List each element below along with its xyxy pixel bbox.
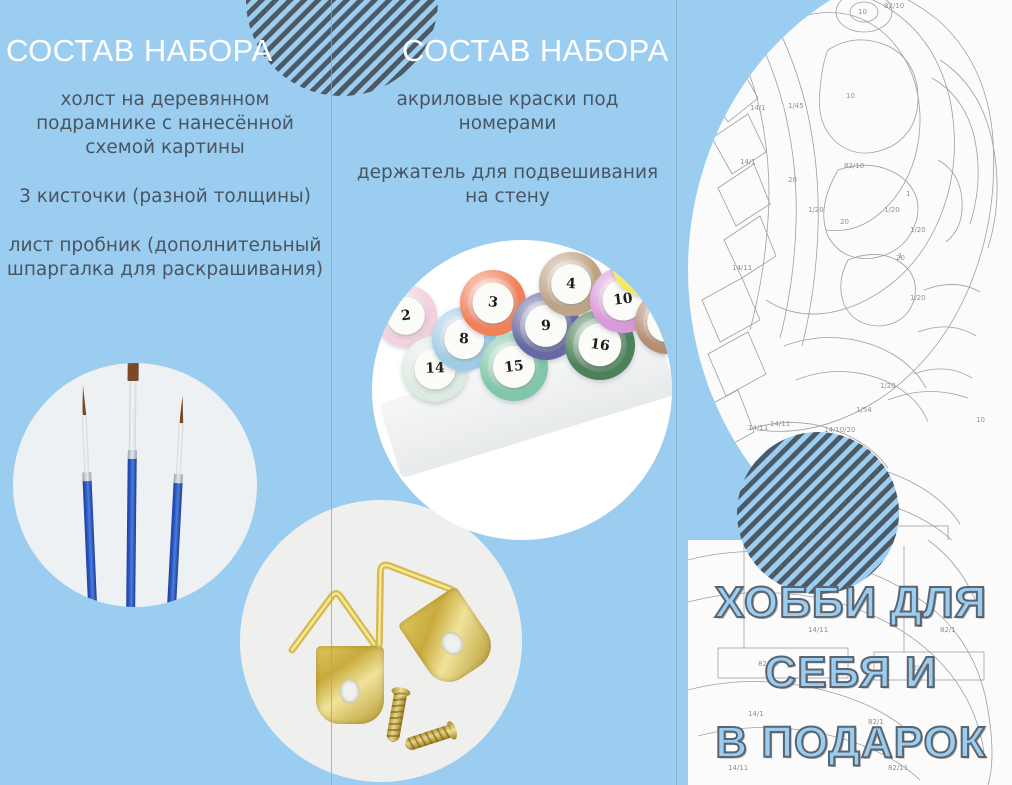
photo-wall-hanger bbox=[240, 500, 522, 782]
svg-text:1: 1 bbox=[906, 190, 910, 198]
brush-band bbox=[174, 474, 183, 483]
svg-text:14/11: 14/11 bbox=[732, 264, 752, 272]
brush-bristles bbox=[128, 363, 139, 381]
kit-contents-list-left: холст на деревянном подрамнике с нанесён… bbox=[6, 88, 324, 282]
brush-band bbox=[82, 472, 91, 481]
svg-text:1/20: 1/20 bbox=[910, 226, 926, 234]
kit-item-paints: акриловые краски под номерами bbox=[345, 88, 670, 136]
svg-text:82/10: 82/10 bbox=[884, 2, 904, 10]
brush-handle bbox=[166, 479, 183, 607]
poster-root: 82/10 10 10 82/10 20 20 20 1/20 1/20 1/4… bbox=[0, 0, 1012, 785]
svg-text:1/20: 1/20 bbox=[884, 206, 900, 214]
photo-brushes bbox=[13, 363, 257, 607]
striped-circle-bottom bbox=[737, 432, 899, 594]
svg-text:10: 10 bbox=[976, 416, 985, 424]
svg-text:1/20: 1/20 bbox=[910, 294, 926, 302]
svg-text:14/11: 14/11 bbox=[706, 429, 726, 437]
brush-handle bbox=[82, 477, 98, 607]
kit-item-hanger: держатель для подвешивания на стену bbox=[345, 161, 670, 209]
svg-text:1/54: 1/54 bbox=[856, 406, 872, 414]
screw-angled bbox=[404, 724, 454, 751]
svg-text:14/1: 14/1 bbox=[750, 104, 766, 112]
kit-contents-header-right: СОСТАВ НАБОРА bbox=[402, 33, 669, 69]
svg-text:1/20: 1/20 bbox=[880, 382, 896, 390]
svg-text:1: 1 bbox=[898, 252, 902, 260]
svg-text:14/11: 14/11 bbox=[748, 424, 768, 432]
brush-handle bbox=[126, 455, 137, 607]
svg-text:1/45: 1/45 bbox=[788, 102, 804, 110]
svg-text:82/10: 82/10 bbox=[844, 162, 864, 170]
svg-text:10: 10 bbox=[846, 92, 855, 100]
kit-contents-header-left: СОСТАВ НАБОРА bbox=[6, 33, 273, 69]
slogan-line-1: ХОББИ ДЛЯ bbox=[690, 578, 1012, 628]
svg-text:14/11: 14/11 bbox=[770, 420, 790, 428]
hanger-plate bbox=[316, 646, 384, 724]
kit-item-brushes: 3 кисточки (разной толщины) bbox=[6, 185, 324, 209]
brush-bristles bbox=[179, 395, 184, 423]
column-divider-left bbox=[331, 0, 332, 785]
column-divider-right bbox=[676, 0, 677, 785]
brush-ferrule bbox=[129, 381, 137, 455]
brush-band bbox=[128, 450, 137, 459]
svg-text:10: 10 bbox=[858, 8, 867, 16]
svg-text:20: 20 bbox=[840, 218, 849, 226]
kit-item-canvas: холст на деревянном подрамнике с нанесён… bbox=[6, 88, 324, 160]
svg-text:20: 20 bbox=[788, 176, 797, 184]
slogan-line-3: В ПОДАРОК bbox=[690, 718, 1012, 768]
photo-paint-pots: 21483159416105171 bbox=[372, 240, 672, 540]
kit-item-sample-sheet: лист пробник (дополнительный шпаргалка д… bbox=[6, 234, 324, 282]
screw-threads bbox=[404, 724, 454, 751]
brush-ferrule bbox=[82, 415, 90, 477]
slogan-line-2: СЕБЯ И bbox=[690, 648, 1012, 698]
kit-contents-list-right: акриловые краски под номерами держатель … bbox=[345, 88, 670, 209]
svg-text:14/1: 14/1 bbox=[740, 158, 756, 166]
svg-text:1/20: 1/20 bbox=[808, 206, 824, 214]
svg-text:14/1: 14/1 bbox=[748, 710, 764, 718]
brush-ferrule bbox=[176, 423, 184, 479]
brush-bristles bbox=[81, 385, 86, 415]
